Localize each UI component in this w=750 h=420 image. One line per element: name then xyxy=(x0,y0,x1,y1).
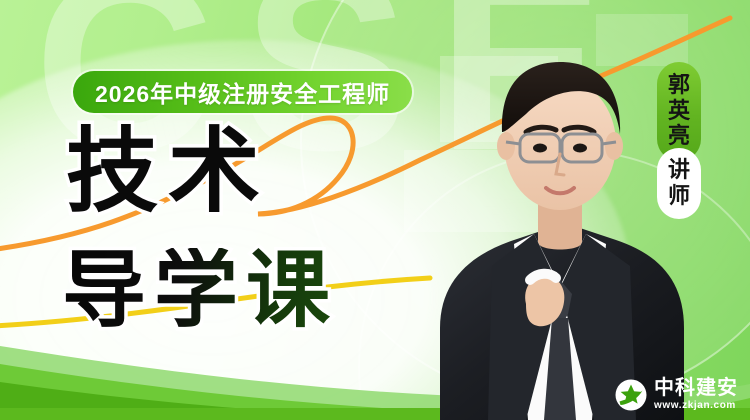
brand-url: www.zkjan.com xyxy=(654,401,738,411)
brand-name: 中科建安 xyxy=(654,378,738,398)
instructor-name-pill: 郭 英 亮 xyxy=(657,62,701,161)
brand-logo[interactable]: 中科建安 www.zkjan.com xyxy=(615,378,738,411)
page-title: 技术 xyxy=(66,126,270,218)
instructor-role-char-1: 讲 xyxy=(668,157,690,183)
instructor-role-pill: 讲 师 xyxy=(657,148,701,219)
instructor-name-char-3: 亮 xyxy=(668,123,690,149)
brand-logo-text: 中科建安 www.zkjan.com xyxy=(654,378,738,411)
eye-left xyxy=(533,144,547,153)
ear-left xyxy=(497,132,515,160)
instructor-name-char-1: 郭 xyxy=(668,72,690,98)
ear-right xyxy=(605,132,623,160)
star-swoosh-circle-icon xyxy=(615,379,647,411)
page-subtitle: 导学课 xyxy=(62,248,338,332)
course-badge-label: 2026年中级注册安全工程师 xyxy=(95,75,390,109)
course-badge: 2026年中级注册安全工程师 xyxy=(73,71,412,113)
instructor-role-char-2: 师 xyxy=(668,183,690,209)
instructor-name-char-2: 英 xyxy=(668,98,690,124)
instructor-photo xyxy=(430,28,690,420)
eye-right xyxy=(573,144,587,153)
course-poster: CSE xyxy=(0,0,750,420)
